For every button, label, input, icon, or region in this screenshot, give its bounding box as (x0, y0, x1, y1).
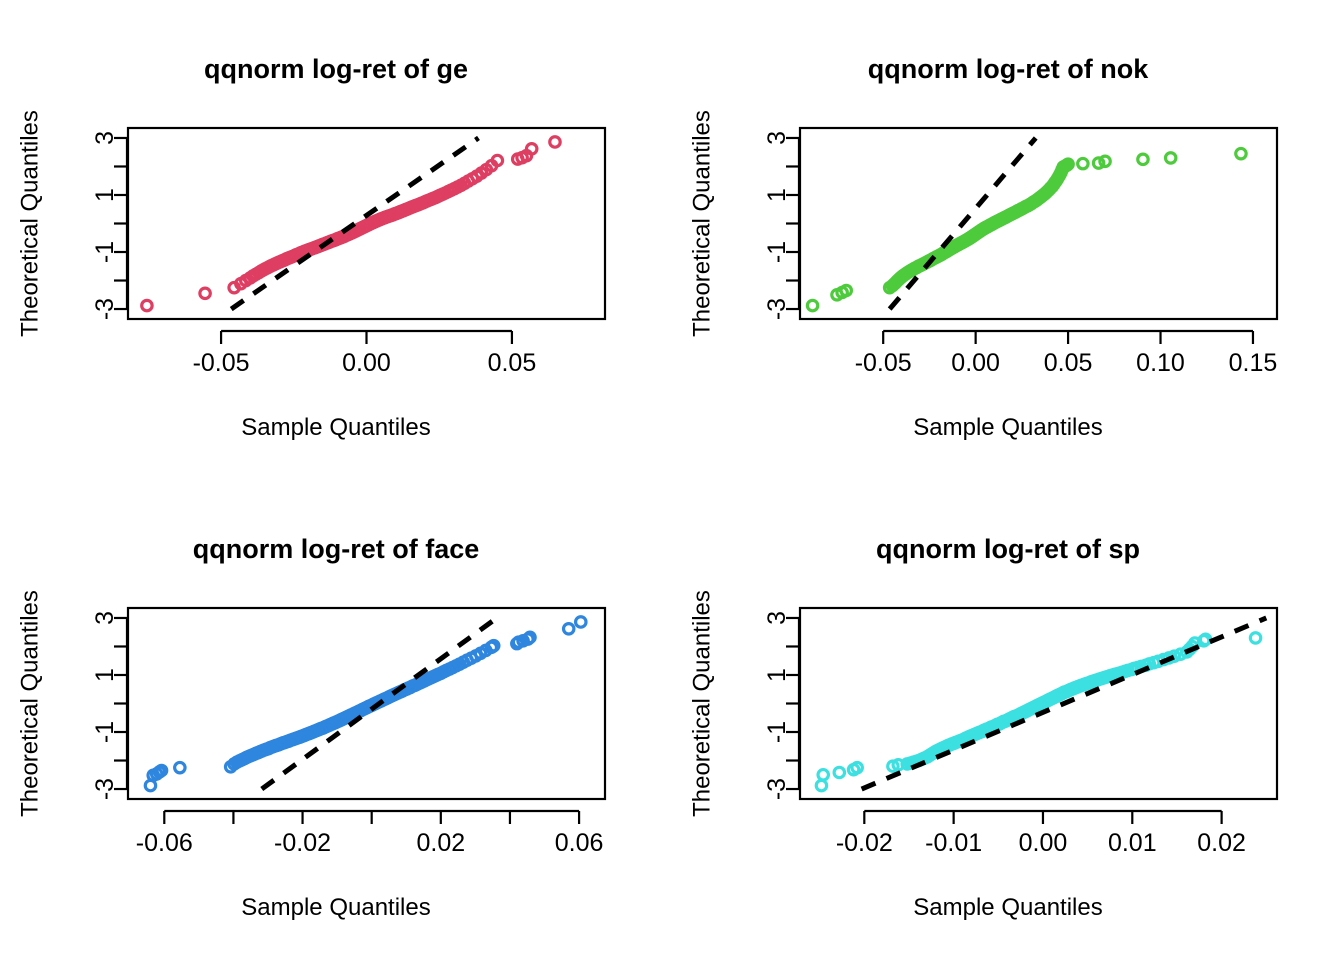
panel-ge: qqnorm log-ret of ge-3-113Theoretical Qu… (0, 0, 672, 480)
data-point (1165, 153, 1175, 163)
panel-title: qqnorm log-ret of sp (876, 534, 1140, 564)
x-axis-title: Sample Quantiles (913, 894, 1102, 921)
x-axis-title: Sample Quantiles (241, 414, 430, 441)
panel-face-svg: qqnorm log-ret of face-3-113Theoretical … (0, 480, 672, 960)
x-tick-label: -0.01 (925, 829, 982, 857)
data-point (1200, 634, 1210, 644)
data-point (527, 144, 537, 154)
x-tick-label: 0.00 (951, 349, 1000, 377)
y-axis-title: Theoretical Quantiles (17, 590, 44, 817)
x-tick-label: -0.06 (136, 829, 193, 857)
data-point (577, 0, 587, 5)
data-point (816, 780, 826, 790)
x-tick-label: 0.00 (342, 349, 391, 377)
qq-reference-line (890, 138, 1036, 309)
data-point (1078, 158, 1088, 168)
data-point (142, 300, 152, 310)
y-tick-label: 3 (763, 611, 791, 625)
panel-ge-svg: qqnorm log-ret of ge-3-113Theoretical Qu… (0, 0, 672, 480)
data-point (525, 632, 535, 642)
y-tick-label: -1 (91, 241, 119, 263)
data-point (175, 762, 185, 772)
y-axis-title: Theoretical Quantiles (689, 110, 716, 337)
plot-box (800, 128, 1277, 319)
x-tick-label: 0.10 (1136, 349, 1185, 377)
y-tick-label: 1 (91, 668, 119, 682)
data-point (818, 770, 828, 780)
x-tick-label: -0.05 (193, 349, 250, 377)
y-tick-label: 1 (763, 188, 791, 202)
qqplot-figure: qqnorm log-ret of ge-3-113Theoretical Qu… (0, 0, 1344, 960)
data-layer (807, 138, 1246, 311)
qq-reference-line (231, 138, 478, 309)
data-point (564, 624, 574, 634)
x-tick-label: 0.02 (1197, 829, 1246, 857)
panel-title: qqnorm log-ret of nok (868, 54, 1149, 84)
x-tick-label: -0.02 (274, 829, 331, 857)
panel-sp: qqnorm log-ret of sp-3-113Theoretical Qu… (672, 480, 1344, 960)
panel-title: qqnorm log-ret of ge (204, 54, 468, 84)
data-point (576, 617, 586, 627)
y-axis-title: Theoretical Quantiles (17, 110, 44, 337)
panel-face: qqnorm log-ret of face-3-113Theoretical … (0, 480, 672, 960)
data-point (492, 155, 502, 165)
x-tick-label: 0.02 (416, 829, 465, 857)
y-tick-label: 1 (763, 668, 791, 682)
panel-nok: qqnorm log-ret of nok-3-113Theoretical Q… (672, 0, 1344, 480)
data-point (834, 767, 844, 777)
y-axis-title: Theoretical Quantiles (689, 590, 716, 817)
panel-sp-svg: qqnorm log-ret of sp-3-113Theoretical Qu… (672, 480, 1344, 960)
y-tick-label: -1 (763, 721, 791, 743)
y-tick-label: -1 (91, 721, 119, 743)
data-point (807, 300, 817, 310)
x-axis-title: Sample Quantiles (913, 414, 1102, 441)
x-tick-label: -0.02 (836, 829, 893, 857)
y-tick-label: -3 (763, 778, 791, 800)
y-tick-label: 3 (91, 131, 119, 145)
data-point (1250, 633, 1260, 643)
data-layer (142, 0, 588, 311)
y-tick-label: -3 (91, 298, 119, 320)
y-tick-label: -1 (763, 241, 791, 263)
data-point (200, 288, 210, 298)
y-tick-label: 3 (91, 611, 119, 625)
data-layer (145, 617, 586, 791)
x-tick-label: 0.05 (488, 349, 537, 377)
x-tick-label: 0.01 (1108, 829, 1157, 857)
qq-reference-line (262, 618, 497, 789)
data-point (550, 137, 560, 147)
data-point (1138, 154, 1148, 164)
x-axis-title: Sample Quantiles (241, 894, 430, 921)
panel-nok-svg: qqnorm log-ret of nok-3-113Theoretical Q… (672, 0, 1344, 480)
y-tick-label: 3 (763, 131, 791, 145)
y-tick-label: -3 (91, 778, 119, 800)
data-layer (816, 618, 1266, 791)
y-tick-label: -3 (763, 298, 791, 320)
data-point (1236, 148, 1246, 158)
panel-title: qqnorm log-ret of face (193, 534, 480, 564)
x-tick-label: 0.15 (1229, 349, 1278, 377)
x-tick-label: -0.05 (855, 349, 912, 377)
x-tick-label: 0.05 (1044, 349, 1093, 377)
x-tick-label: 0.06 (555, 829, 604, 857)
data-point (489, 640, 499, 650)
y-tick-label: 1 (91, 188, 119, 202)
x-tick-label: 0.00 (1019, 829, 1068, 857)
